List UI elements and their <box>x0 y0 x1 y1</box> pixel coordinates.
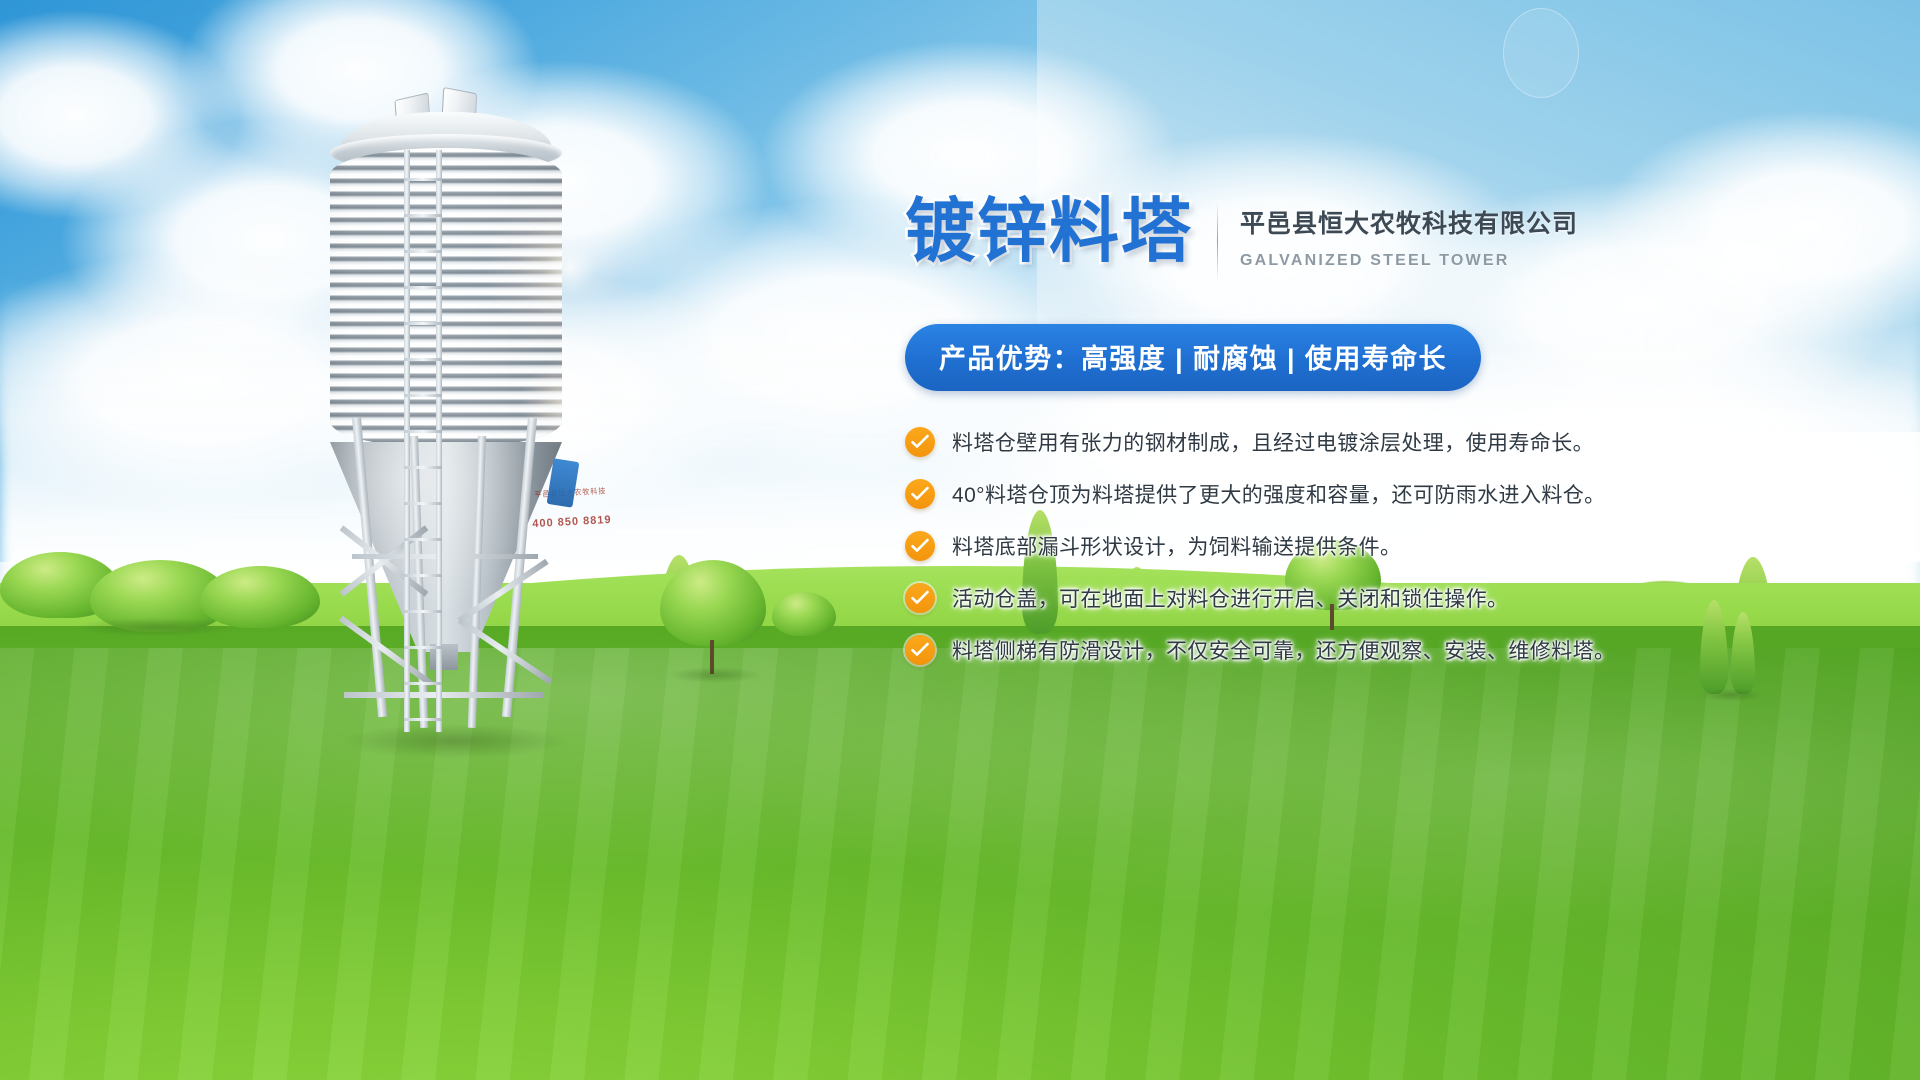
silo-horizontal-brace <box>344 692 544 698</box>
list-item: 活动仓盖，可在地面上对料仓进行开启、关闭和锁住操作。 <box>905 583 1705 613</box>
vertical-divider <box>1217 202 1218 280</box>
list-item-label: 40°料塔仓顶为料塔提供了更大的强度和容量，还可防雨水进入料仓。 <box>952 479 1606 509</box>
check-circle-icon <box>905 635 935 665</box>
feature-list: 料塔仓壁用有张力的钢材制成，且经过电镀涂层处理，使用寿命长。 40°料塔仓顶为料… <box>905 427 1705 665</box>
silo-ladder-rung <box>404 358 442 361</box>
feed-silo-image: 平邑县恒大农牧科技 400 850 8819 <box>300 88 630 748</box>
silo-ladder-rung <box>404 178 442 181</box>
page-title: 镀锌料塔 <box>905 196 1193 267</box>
banner-root: 平邑县恒大农牧科技 400 850 8819 <box>0 0 1920 1080</box>
list-item-label: 料塔仓壁用有张力的钢材制成，且经过电镀涂层处理，使用寿命长。 <box>952 427 1594 457</box>
silo-marking-hotline: 400 850 8819 <box>512 513 632 531</box>
silo-ladder-rung <box>404 286 442 289</box>
silo-ladder-rung <box>404 250 442 253</box>
list-item: 料塔底部漏斗形状设计，为饲料输送提供条件。 <box>905 531 1705 561</box>
lens-flare-secondary <box>505 343 625 463</box>
shrub-shadow <box>40 614 270 640</box>
list-item: 40°料塔仓顶为料塔提供了更大的强度和容量，还可防雨水进入料仓。 <box>905 479 1705 509</box>
check-circle-icon <box>905 479 935 509</box>
silo-horizontal-brace <box>352 554 538 559</box>
company-block: 平邑县恒大农牧科技有限公司 GALVANIZED STEEL TOWER <box>1240 196 1578 270</box>
list-item-label: 活动仓盖，可在地面上对料仓进行开启、关闭和锁住操作。 <box>952 583 1508 613</box>
silo-ladder-rung <box>404 502 442 505</box>
list-item-label: 料塔底部漏斗形状设计，为饲料输送提供条件。 <box>952 531 1401 561</box>
silo-ladder-rung <box>404 430 442 433</box>
list-item: 料塔仓壁用有张力的钢材制成，且经过电镀涂层处理，使用寿命长。 <box>905 427 1705 457</box>
silo-ladder-rung <box>404 538 442 541</box>
list-item-label: 料塔侧梯有防滑设计，不仅安全可靠，还方便观察、安装、维修料塔。 <box>952 635 1615 665</box>
sun-circle-icon <box>1503 8 1579 98</box>
silo-ladder-rung <box>404 214 442 217</box>
silo-ladder-rail-left <box>404 150 410 732</box>
product-advantage-badge: 产品优势：高强度 | 耐腐蚀 | 使用寿命长 <box>905 324 1481 391</box>
silo-ladder-rung <box>404 574 442 577</box>
silo-ladder-rung <box>404 646 442 649</box>
check-circle-icon <box>905 531 935 561</box>
silo-ladder-rung <box>404 718 442 721</box>
text-panel: 镀锌料塔 平邑县恒大农牧科技有限公司 GALVANIZED STEEL TOWE… <box>905 196 1705 687</box>
silo-ladder-rung <box>404 322 442 325</box>
silo-ladder-rung <box>404 610 442 613</box>
check-circle-icon <box>905 583 935 613</box>
grass-highlight <box>0 648 1920 1080</box>
check-circle-icon <box>905 427 935 457</box>
headline-row: 镀锌料塔 平邑县恒大农牧科技有限公司 GALVANIZED STEEL TOWE… <box>905 196 1705 280</box>
company-name: 平邑县恒大农牧科技有限公司 <box>1240 204 1578 240</box>
list-item: 料塔侧梯有防滑设计，不仅安全可靠，还方便观察、安装、维修料塔。 <box>905 635 1705 665</box>
company-subtitle-en: GALVANIZED STEEL TOWER <box>1240 252 1578 270</box>
shrub <box>772 592 836 636</box>
silo-ladder-rung <box>404 466 442 469</box>
silo-ladder-rung <box>404 682 442 685</box>
small-tree-shadow <box>650 664 780 686</box>
silo-ladder-rung <box>404 394 442 397</box>
silo-ladder-rail-right <box>436 150 442 732</box>
cypress-shadow <box>1686 686 1776 704</box>
